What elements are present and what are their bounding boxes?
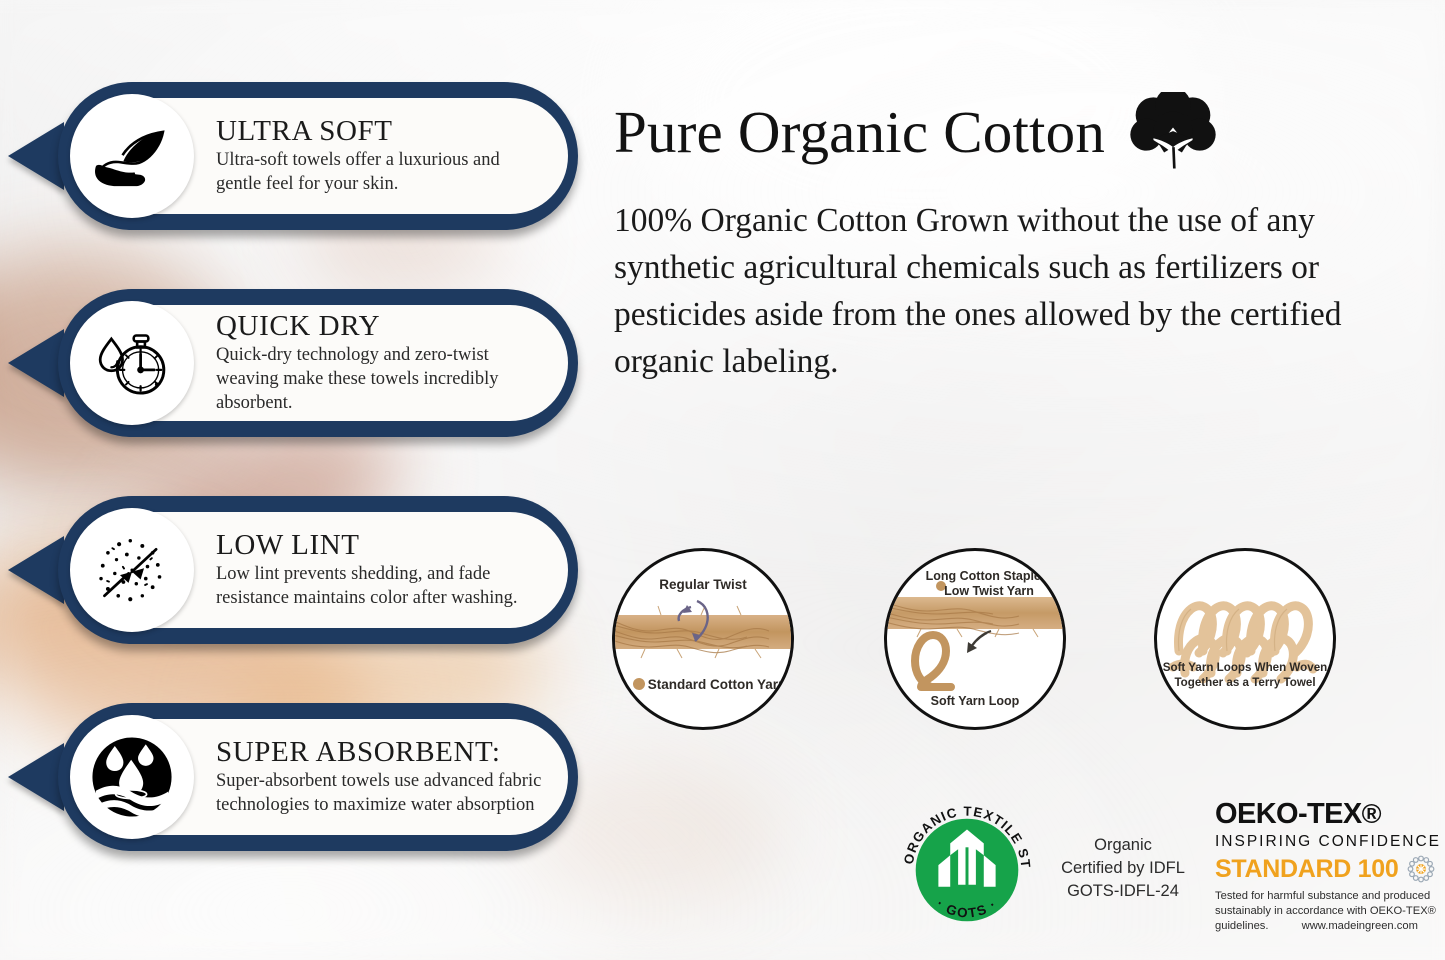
feature-card-super-absorbent[interactable]: SUPER ABSORBENT: Super-absorbent towels … — [58, 703, 578, 851]
gots-caption-line2: Certified by IDFL — [1061, 857, 1185, 880]
pill-text-panel: QUICK DRY Quick-dry technology and zero-… — [144, 305, 568, 421]
feature-title: SUPER ABSORBENT: — [216, 737, 542, 768]
yarn-bottom-label-line1: Soft Yarn Loops When Woven — [1157, 661, 1333, 674]
headline-text: Pure Organic Cotton — [614, 103, 1105, 162]
yarn-top-label: Regular Twist — [615, 577, 791, 592]
yarn-diagram-regular-twist: Regular Twist Standard Cotton Yarn — [612, 548, 794, 730]
oeko-tex-flower-icon — [1406, 854, 1436, 884]
pill-body: QUICK DRY Quick-dry technology and zero-… — [58, 289, 578, 437]
yarn-bottom-label: Standard Cotton Yarn — [615, 677, 794, 692]
oeko-tex-title: OEKO-TEX — [1215, 800, 1362, 829]
feature-card-quick-dry[interactable]: QUICK DRY Quick-dry technology and zero-… — [58, 289, 578, 437]
oeko-tex-logo: OEKO-TEX® INSPIRING CONFIDENCE STANDARD … — [1215, 800, 1443, 934]
feature-description: Quick-dry technology and zero-twist weav… — [216, 344, 542, 415]
pill-text-panel: SUPER ABSORBENT: Super-absorbent towels … — [144, 719, 568, 835]
gots-caption-line3: GOTS-IDFL-24 — [1061, 880, 1185, 903]
page-title: Pure Organic Cotton — [614, 92, 1414, 172]
feature-list: ULTRA SOFT Ultra-soft towels offer a lux… — [58, 82, 578, 851]
oeko-tex-standard-row: STANDARD 100 — [1215, 854, 1443, 884]
gots-caption: Organic Certified by IDFL GOTS-IDFL-24 — [1061, 834, 1185, 902]
feature-card-low-lint[interactable]: LOW LINT Low lint prevents shedding, and… — [58, 496, 578, 644]
yarn-bottom-label: Soft Yarn Loop — [887, 694, 1063, 708]
oeko-tex-tagline: INSPIRING CONFIDENCE — [1215, 833, 1443, 851]
feature-title: ULTRA SOFT — [216, 116, 542, 147]
feature-icon-badge — [70, 94, 194, 218]
stopwatch-droplet-icon — [89, 320, 175, 406]
yarn-top-label-line1: Long Cotton Staple, — [887, 569, 1066, 583]
oeko-tex-standard: STANDARD 100 — [1215, 857, 1398, 882]
feature-title: QUICK DRY — [216, 311, 542, 342]
pill-tail — [8, 743, 64, 811]
cotton-boll-icon — [1127, 92, 1219, 172]
registered-mark-icon: ® — [1362, 801, 1381, 828]
feature-icon-badge — [70, 715, 194, 839]
pill-text-panel: ULTRA SOFT Ultra-soft towels offer a lux… — [144, 98, 568, 214]
water-droplets-absorb-icon — [89, 734, 175, 820]
gots-logo-icon: GLOBAL ORGANIC TEXTILE STANDARD · GOTS · — [893, 796, 1041, 944]
pill-tail — [8, 329, 64, 397]
oeko-tex-url: www.madeingreen.com — [1302, 919, 1418, 934]
lint-particles-arrows-icon — [89, 527, 175, 613]
yarn-top-label-line2: Low Twist Yarn — [887, 584, 1066, 598]
pill-tail — [8, 122, 64, 190]
pill-body: SUPER ABSORBENT: Super-absorbent towels … — [58, 703, 578, 851]
gots-caption-line1: Organic — [1061, 834, 1185, 857]
hero-paragraph: 100% Organic Cotton Grown without the us… — [614, 198, 1404, 386]
pill-text-panel: LOW LINT Low lint prevents shedding, and… — [144, 512, 568, 628]
terry-towel-loops-illustration — [1157, 551, 1333, 727]
oeko-tex-title-row: OEKO-TEX® — [1215, 800, 1443, 829]
yarn-diagram-terry-loops: Soft Yarn Loops When Woven Together as a… — [1154, 548, 1336, 730]
feature-description: Low lint prevents shedding, and fade res… — [216, 563, 542, 610]
yarn-bottom-label-line2: Together as a Terry Towel — [1157, 676, 1333, 689]
feature-icon-badge — [70, 301, 194, 425]
oeko-tex-fine-print: Tested for harmful substance and produce… — [1215, 889, 1443, 934]
hero-section: Pure Organic Cotton 100% Organic Cotton … — [614, 92, 1414, 386]
feature-description: Ultra-soft towels offer a luxurious and … — [216, 149, 542, 196]
feather-in-hand-icon — [89, 113, 175, 199]
pill-tail — [8, 536, 64, 604]
yarn-diagram-group: Regular Twist Standard Cotton Yarn — [612, 548, 1352, 726]
feature-title: LOW LINT — [216, 530, 542, 561]
feature-card-ultra-soft[interactable]: ULTRA SOFT Ultra-soft towels offer a lux… — [58, 82, 578, 230]
feature-description: Super-absorbent towels use advanced fabr… — [216, 770, 542, 817]
feature-icon-badge — [70, 508, 194, 632]
pill-body: ULTRA SOFT Ultra-soft towels offer a lux… — [58, 82, 578, 230]
yarn-diagram-low-twist: Long Cotton Staple, Low Twist Yarn Soft … — [884, 548, 1066, 730]
certification-group: GLOBAL ORGANIC TEXTILE STANDARD · GOTS ·… — [893, 788, 1441, 948]
pill-body: LOW LINT Low lint prevents shedding, and… — [58, 496, 578, 644]
